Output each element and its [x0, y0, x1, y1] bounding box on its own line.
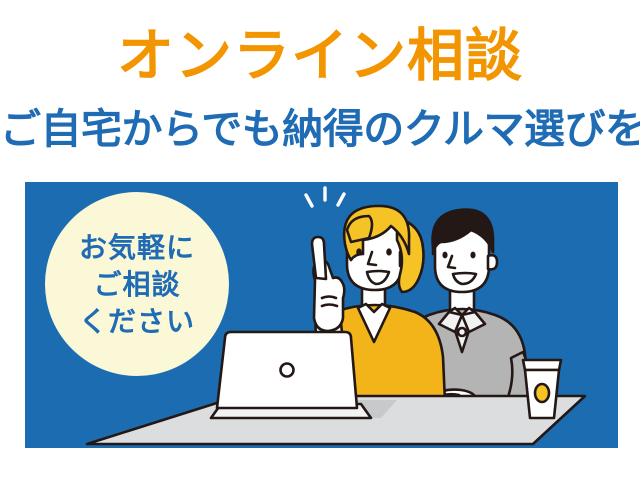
- online-consultation-banner: オンライン相談 ご自宅からでも納得のクルマ選びを .ol { fill:none…: [0, 0, 640, 480]
- sparkle-marks: [306, 188, 344, 206]
- callout-line-1: お気軽に: [79, 229, 195, 266]
- callout-bubble: お気軽に ご相談 ください: [45, 192, 229, 376]
- illustration-panel: .ol { fill:none; stroke:#231815; stroke-…: [25, 182, 618, 448]
- laptop: [211, 332, 371, 418]
- page-title: オンライン相談: [0, 24, 640, 88]
- callout-line-2: ご相談: [93, 266, 180, 303]
- headline-area: オンライン相談 ご自宅からでも納得のクルマ選びを: [0, 0, 640, 172]
- page-subtitle: ご自宅からでも納得のクルマ選びを: [0, 104, 640, 154]
- callout-line-3: ください: [79, 303, 195, 340]
- coffee-cup: [523, 360, 561, 418]
